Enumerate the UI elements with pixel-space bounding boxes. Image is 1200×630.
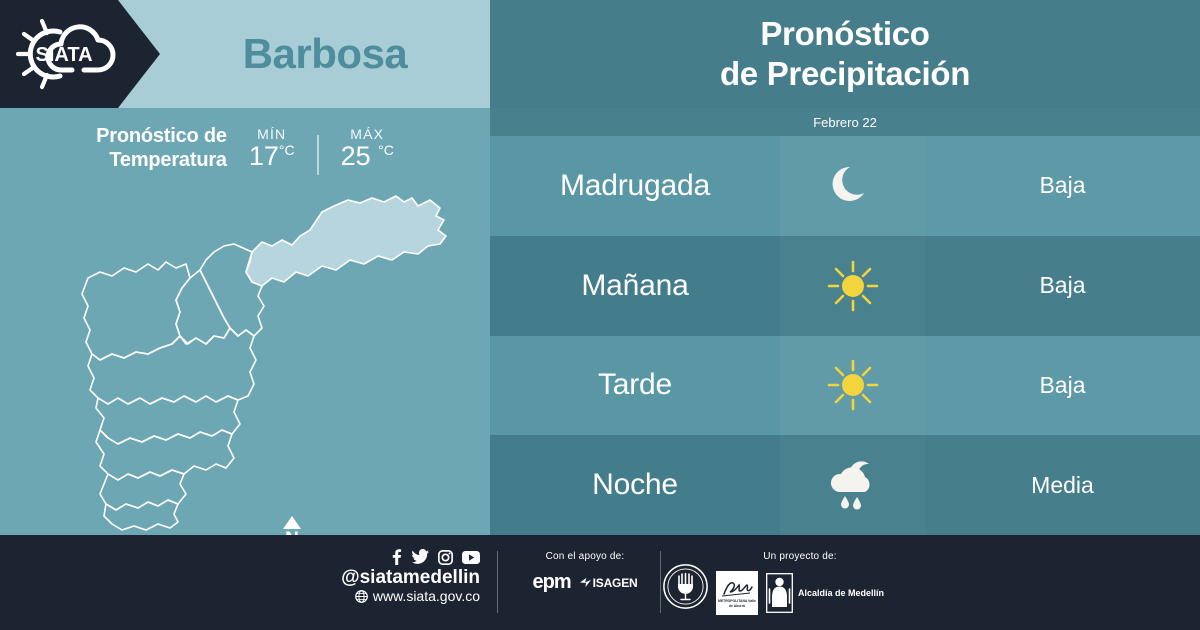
aburra-valley-map[interactable]: N xyxy=(0,186,490,535)
temperature-min: MÍN 17°C xyxy=(249,126,295,170)
social-icons xyxy=(300,549,480,565)
left-header: SIATA Barbosa xyxy=(0,0,490,108)
forecast-table: Madrugada Baja Mañana xyxy=(490,136,1200,535)
forecast-period-cell: Mañana xyxy=(490,236,780,336)
sun-cloud-icon: SIATA xyxy=(14,14,118,94)
footer-divider xyxy=(497,551,498,613)
area-script-icon xyxy=(721,578,753,598)
forecast-icon-cell xyxy=(780,435,925,535)
forecast-title-line2: de Precipitación xyxy=(720,54,970,94)
temperature-title-line1: Pronóstico de xyxy=(96,124,227,148)
forecast-row-tarde[interactable]: Tarde Baja xyxy=(490,336,1200,436)
logo-text: SIATA xyxy=(35,44,92,66)
forecast-date: Febrero 22 xyxy=(813,115,877,130)
forecast-level-label: Baja xyxy=(1039,272,1085,299)
project-caption: Un proyecto de: xyxy=(700,551,900,562)
forecast-row-manana[interactable]: Mañana Baja xyxy=(490,236,1200,336)
social-block: @siatamedellin www.siata.gov.co xyxy=(300,549,480,604)
forecast-header: Pronóstico de Precipitación xyxy=(490,0,1200,108)
forecast-icon-cell xyxy=(780,336,925,436)
temperature-min-label: MÍN xyxy=(249,126,295,142)
support-caption: Con el apoyo de: xyxy=(515,551,655,562)
forecast-level-label: Baja xyxy=(1039,172,1085,199)
forecast-icon-cell xyxy=(780,136,925,236)
map-region-caldas xyxy=(104,500,178,530)
forecast-level-cell: Baja xyxy=(925,136,1200,236)
forecast-period-label: Madrugada xyxy=(560,169,710,203)
footer: @siatamedellin www.siata.gov.co Con el a… xyxy=(0,535,1200,630)
isagen-logo[interactable]: ISAGEN xyxy=(580,576,638,590)
temperature-min-value: 17 xyxy=(249,141,279,171)
temperature-divider xyxy=(317,135,319,175)
forecast-period-cell: Madrugada xyxy=(490,136,780,236)
temperature-min-value-row: 17°C xyxy=(249,142,295,170)
area-logo-sub: METROPOLITANA Valle de Aburrá xyxy=(716,599,758,608)
sun-icon xyxy=(824,257,882,315)
sun-icon xyxy=(824,356,882,414)
forecast-level-cell: Media xyxy=(925,435,1200,535)
map-region-itagui xyxy=(96,396,240,444)
forecast-row-noche[interactable]: Noche Media xyxy=(490,435,1200,535)
support-logos: epm ISAGEN xyxy=(515,571,655,594)
forecast-period-label: Mañana xyxy=(581,269,688,303)
forecast-period-label: Noche xyxy=(592,468,678,502)
temperature-max: MÁX 25 °C xyxy=(341,126,394,170)
map-region-barbosa xyxy=(246,196,446,286)
map-region-copacabana xyxy=(176,270,230,344)
forecast-level-cell: Baja xyxy=(925,236,1200,336)
map-region-bello xyxy=(82,262,190,360)
forecast-title-line1: Pronóstico xyxy=(720,14,970,54)
siata-logo-badge[interactable]: SIATA xyxy=(0,0,160,108)
moon-icon xyxy=(826,159,880,213)
project-logos: METROPOLITANA Valle de Aburrá Alcaldía d… xyxy=(700,571,900,615)
forecast-period-cell: Noche xyxy=(490,435,780,535)
temperature-max-value: 25 xyxy=(341,141,371,171)
forecast-panel: Pronóstico de Precipitación Febrero 22 M… xyxy=(490,0,1200,535)
map-region-medellin xyxy=(88,328,256,404)
forecast-level-cell: Baja xyxy=(925,336,1200,436)
project-block: Un proyecto de: METROPOLITANA Valle de A… xyxy=(700,551,900,615)
instagram-icon[interactable] xyxy=(438,550,453,565)
area-metropolitana-logo[interactable]: METROPOLITANA Valle de Aburrá xyxy=(716,571,758,615)
map-svg xyxy=(0,186,490,535)
forecast-row-madrugada[interactable]: Madrugada Baja xyxy=(490,136,1200,236)
social-handle[interactable]: @siatamedellin xyxy=(300,567,480,588)
temperature-min-unit: °C xyxy=(279,142,295,158)
alcaldia-medellin-logo[interactable]: Alcaldía de Medellín xyxy=(766,573,884,613)
forecast-title: Pronóstico de Precipitación xyxy=(720,14,970,95)
temperature-title: Pronóstico de Temperatura xyxy=(96,124,227,173)
map-region-envigado xyxy=(96,430,234,480)
left-panel: SIATA Barbosa Pronóstico de Temperatura … xyxy=(0,0,490,535)
forecast-level-label: Baja xyxy=(1039,372,1085,399)
epm-logo[interactable]: epm xyxy=(533,571,571,594)
page-title: Barbosa xyxy=(160,0,490,108)
support-block: Con el apoyo de: epm ISAGEN xyxy=(515,551,655,594)
alcaldia-crest-icon xyxy=(766,573,793,613)
forecast-period-cell: Tarde xyxy=(490,336,780,436)
forecast-date-bar: Febrero 22 xyxy=(490,108,1200,136)
temperature-max-unit: °C xyxy=(378,142,394,158)
forecast-period-label: Tarde xyxy=(598,368,672,402)
footer-divider xyxy=(660,551,661,613)
temperature-max-value-row: 25 °C xyxy=(341,142,394,170)
temperature-max-label: MÁX xyxy=(341,126,394,142)
isagen-text: ISAGEN xyxy=(593,576,638,590)
alcaldia-text: Alcaldía de Medellín xyxy=(798,588,884,598)
globe-icon xyxy=(355,590,368,603)
compass-arrow-icon xyxy=(283,516,301,529)
temperature-title-line2: Temperatura xyxy=(96,148,227,172)
map-region-sabaneta xyxy=(100,470,186,510)
moon-cloud-rain-icon xyxy=(823,457,883,513)
youtube-icon[interactable] xyxy=(462,551,480,564)
forecast-icon-cell xyxy=(780,236,925,336)
forecast-level-label: Media xyxy=(1031,472,1094,499)
isagen-mark-icon xyxy=(580,577,591,588)
facebook-icon[interactable] xyxy=(390,549,403,565)
twitter-icon[interactable] xyxy=(412,549,429,565)
website-row[interactable]: www.siata.gov.co xyxy=(300,588,480,604)
website-url: www.siata.gov.co xyxy=(373,588,480,604)
temperature-block: Pronóstico de Temperatura MÍN 17°C MÁX 2… xyxy=(0,108,490,188)
